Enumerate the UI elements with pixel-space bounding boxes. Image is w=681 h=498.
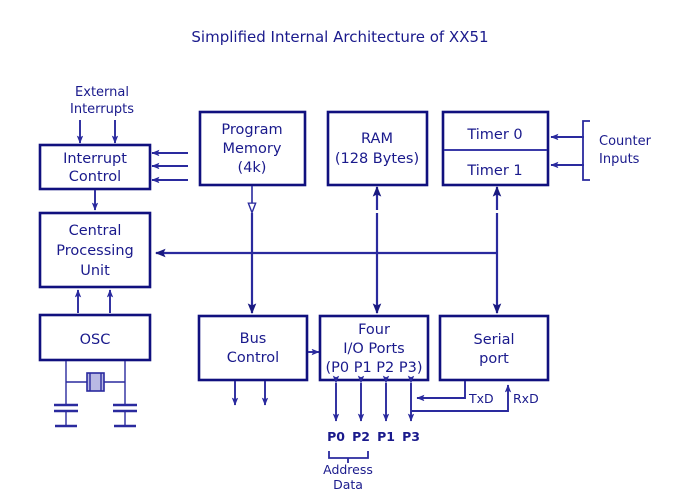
rxd-label: RxD [513,391,539,406]
bus-control-label-line2: Control [227,350,279,366]
cpu-label-line3: Unit [80,263,110,279]
program-memory-label-line2: Memory [223,141,282,157]
io-ports-label-line1: Four [358,322,390,338]
ram-label-line1: RAM [361,131,393,147]
bus-control-label-line1: Bus [240,331,267,347]
io-ports-label-line2: I/O Ports [343,341,404,357]
counter-inputs-bracket [583,121,590,180]
cpu-label-line2: Processing [56,243,133,259]
block-ram [328,112,427,185]
port-label-p2: P2 [352,429,370,444]
external-interrupts-label-line1: External [75,85,129,100]
port-label-p3: P3 [402,429,420,444]
interrupt-control-label-line2: Control [69,169,121,185]
ram-label-line2: (128 Bytes) [335,151,419,167]
timer1-label: Timer 1 [466,163,522,179]
cpu-label-line1: Central [69,223,122,239]
txd-label: TxD [468,391,494,406]
program-memory-label-line3: (4k) [238,160,267,176]
page-title: Simplified Internal Architecture of XX51 [191,28,488,46]
address-data-label-line2: Data [333,477,363,492]
osc-label-line1: OSC [80,332,111,348]
port-label-p1: P1 [377,429,395,444]
block-bus-control [199,316,307,380]
interrupt-control-label-line1: Interrupt [63,151,127,167]
serial-port-label-line1: Serial [473,332,514,348]
diagram-canvas: Simplified Internal Architecture of XX51… [0,0,681,498]
program-memory-label-line1: Program [221,122,282,138]
address-data-label-line1: Address [323,462,373,477]
counter-inputs-label-line2: Inputs [599,152,640,167]
port-label-p0: P0 [327,429,345,444]
timer0-label: Timer 0 [466,127,522,143]
io-ports-label-line3: (P0 P1 P2 P3) [325,360,422,376]
txd-signal-line [417,381,465,398]
serial-port-label-line2: port [479,351,509,367]
block-serial-port [440,316,548,380]
external-interrupts-label-line2: Interrupts [70,102,134,117]
counter-inputs-label-line1: Counter [599,134,652,149]
address-data-bracket [329,451,368,458]
